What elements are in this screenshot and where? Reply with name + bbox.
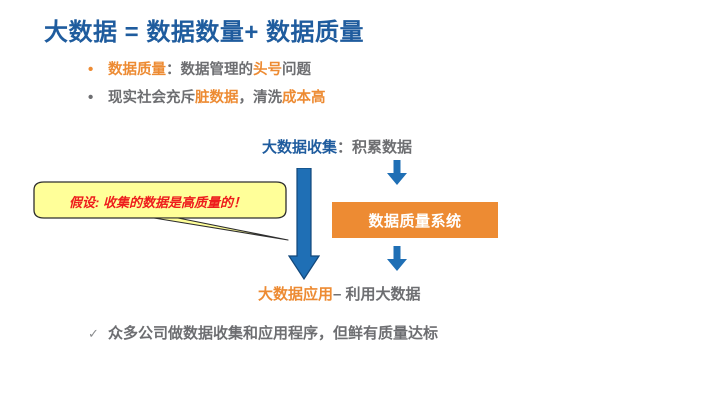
list-item: • 现实社会充斥脏数据，清洗成本高 bbox=[88, 86, 508, 107]
bullet-list: • 数据质量：数据管理的头号问题 • 现实社会充斥脏数据，清洗成本高 bbox=[88, 58, 508, 114]
footer-note: ✓ 众多公司做数据收集和应用程序，但鲜有质量达标 bbox=[88, 322, 438, 343]
collect-stage-label: 大数据收集：积累数据 bbox=[262, 136, 412, 157]
bullet-text: 数据质量：数据管理的头号问题 bbox=[108, 58, 311, 79]
arrow-down-icon bbox=[386, 246, 408, 272]
bullet-text: 现实社会充斥脏数据，清洗成本高 bbox=[108, 86, 326, 107]
collect-stage-rest: ：积累数据 bbox=[337, 139, 412, 156]
quality-box-label: 数据质量系统 bbox=[368, 210, 461, 231]
bullet-segment: 成本高 bbox=[282, 90, 326, 106]
bullet-segment: 现实社会充斥 bbox=[108, 90, 195, 106]
bullet-dot-icon: • bbox=[88, 62, 108, 77]
bullet-segment: 脏数据 bbox=[195, 90, 239, 106]
bullet-dot-icon: • bbox=[88, 90, 108, 105]
arrow-down-icon bbox=[386, 160, 408, 186]
collect-stage-highlight: 大数据收集 bbox=[262, 139, 337, 156]
page-title: 大数据 = 数据数量+ 数据质量 bbox=[44, 12, 364, 47]
bullet-segment: 数据质量 bbox=[108, 62, 166, 78]
bullet-segment: 问题 bbox=[282, 62, 311, 78]
check-icon: ✓ bbox=[88, 326, 108, 342]
apply-stage-rest: – 利用大数据 bbox=[333, 286, 421, 303]
bullet-segment: ：数据管理的 bbox=[166, 62, 253, 78]
apply-stage-label: 大数据应用– 利用大数据 bbox=[258, 283, 421, 304]
data-quality-system-box: 数据质量系统 bbox=[332, 202, 498, 238]
speech-callout-icon bbox=[26, 178, 298, 246]
slide-canvas: 大数据 = 数据数量+ 数据质量 • 数据质量：数据管理的头号问题 • 现实社会… bbox=[0, 0, 720, 405]
footer-note-text: 众多公司做数据收集和应用程序，但鲜有质量达标 bbox=[108, 322, 438, 343]
list-item: • 数据质量：数据管理的头号问题 bbox=[88, 58, 508, 79]
apply-stage-highlight: 大数据应用 bbox=[258, 286, 333, 303]
bullet-segment: 头号 bbox=[253, 62, 282, 78]
bullet-segment: ，清洗 bbox=[239, 90, 283, 106]
